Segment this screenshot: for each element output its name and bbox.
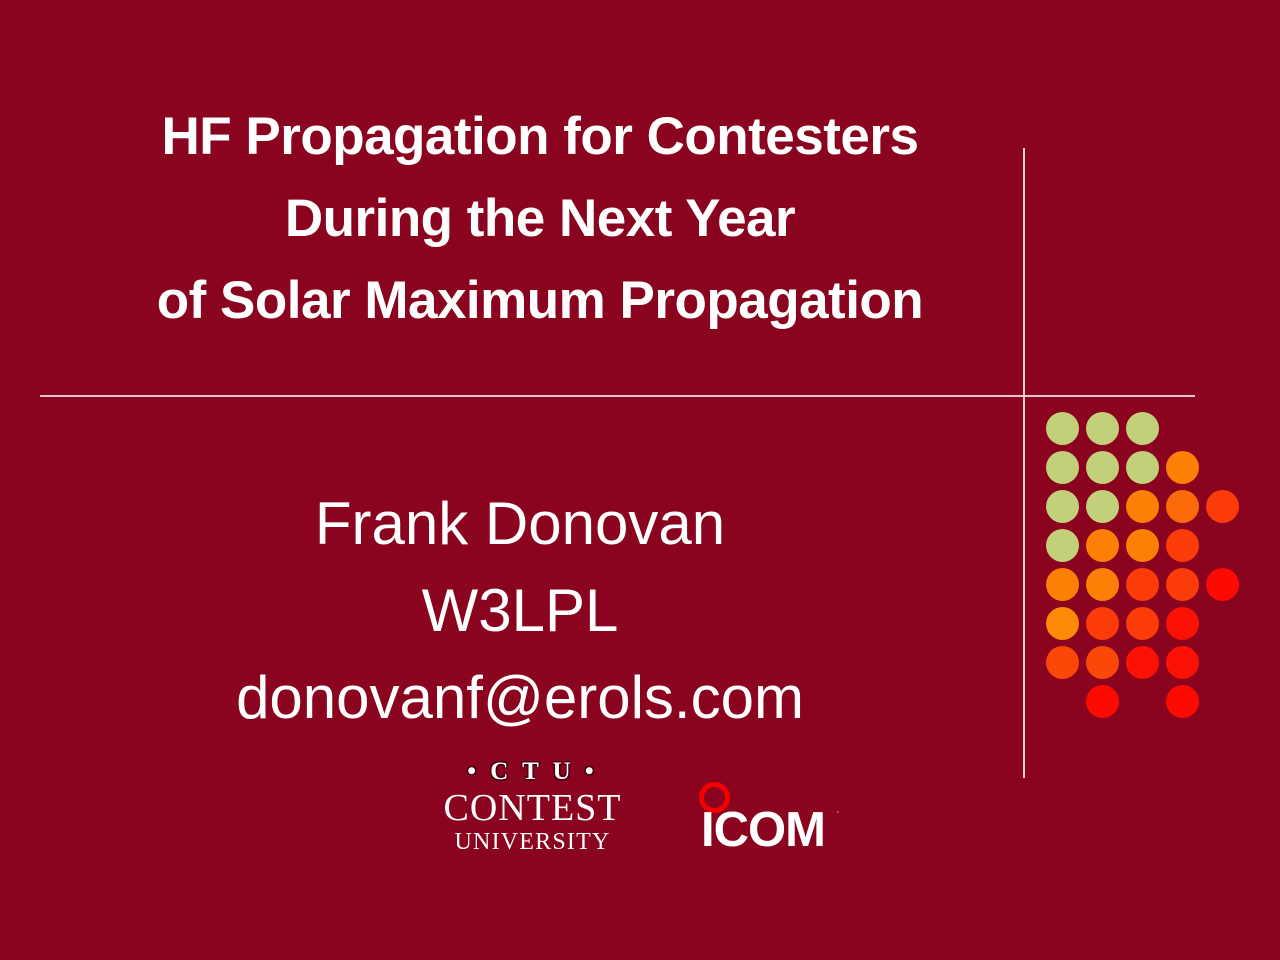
vertical-divider [1023,148,1025,778]
dot-r6-c1 [1086,646,1119,679]
ctu-logo: • C T U • CONTEST UNIVERSITY [425,758,640,855]
dot-r2-c3 [1166,490,1199,523]
decorative-dot-grid [1046,412,1246,732]
author-name: Frank Donovan [40,480,1000,567]
dot-r5-c0 [1046,607,1079,640]
dot-r7-c3 [1166,685,1199,718]
dot-r5-c3 [1166,607,1199,640]
dot-r6-c0 [1046,646,1079,679]
dot-r4-c4 [1206,568,1239,601]
dot-r4-c1 [1086,568,1119,601]
title-line-2: During the Next Year [40,178,1040,260]
dot-r0-c2 [1126,412,1159,445]
title-line-1: HF Propagation for Contesters [40,96,1040,178]
page-title: HF Propagation for Contesters During the… [40,96,1040,342]
dot-r7-c1 [1086,685,1119,718]
dot-r4-c2 [1126,568,1159,601]
dot-r4-c3 [1166,568,1199,601]
dot-r3-c0 [1046,529,1079,562]
author-block: Frank Donovan W3LPL donovanf@erols.com [40,480,1000,741]
ctu-logo-contest-text: CONTEST [425,788,640,828]
dot-r0-c1 [1086,412,1119,445]
ctu-logo-monogram: • C T U • [425,758,640,786]
dot-r4-c0 [1046,568,1079,601]
dot-r1-c2 [1126,451,1159,484]
slide-canvas: HF Propagation for Contesters During the… [0,0,1280,960]
dot-r5-c2 [1126,607,1159,640]
dot-r3-c1 [1086,529,1119,562]
horizontal-divider [40,395,1195,397]
dot-r1-c1 [1086,451,1119,484]
author-callsign: W3LPL [40,567,1000,654]
icom-logo: ICOM · [690,782,860,857]
dot-r5-c1 [1086,607,1119,640]
dot-r6-c2 [1126,646,1159,679]
title-line-3: of Solar Maximum Propagation [40,260,1040,342]
dot-r2-c4 [1206,490,1239,523]
icom-wordmark: ICOM [701,806,825,855]
dot-r1-c0 [1046,451,1079,484]
icom-registered-mark: · [836,806,840,818]
dot-r6-c3 [1166,646,1199,679]
author-email: donovanf@erols.com [40,654,1000,741]
dot-r0-c0 [1046,412,1079,445]
dot-r3-c2 [1126,529,1159,562]
dot-r2-c1 [1086,490,1119,523]
ctu-logo-university-text: UNIVERSITY [425,829,640,855]
dot-r3-c3 [1166,529,1199,562]
dot-r1-c3 [1166,451,1199,484]
dot-r2-c2 [1126,490,1159,523]
dot-r2-c0 [1046,490,1079,523]
